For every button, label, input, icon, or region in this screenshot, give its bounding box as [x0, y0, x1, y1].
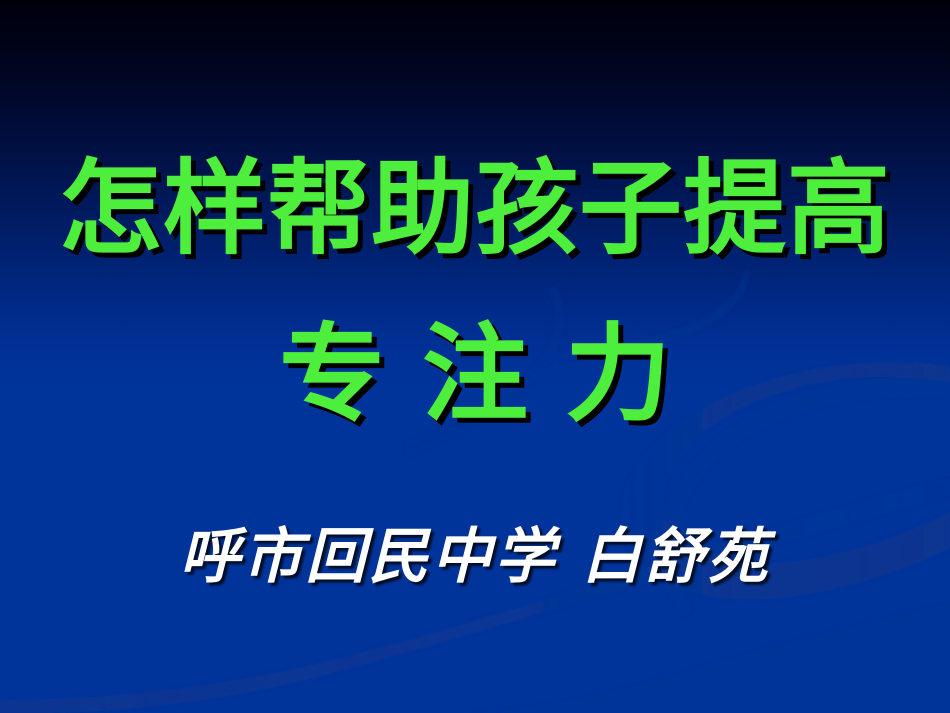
- slide-text-layer: 怎样帮助孩子提高 专 注 力 呼市回民中学 白舒苑: [0, 0, 950, 713]
- slide-presenter-byline: 呼市回民中学 白舒苑: [0, 527, 950, 587]
- title-slide: 怎样帮助孩子提高 专 注 力 呼市回民中学 白舒苑: [0, 0, 950, 713]
- slide-title-line-1: 怎样帮助孩子提高: [0, 158, 950, 261]
- slide-title-line-2: 专 注 力: [0, 322, 950, 428]
